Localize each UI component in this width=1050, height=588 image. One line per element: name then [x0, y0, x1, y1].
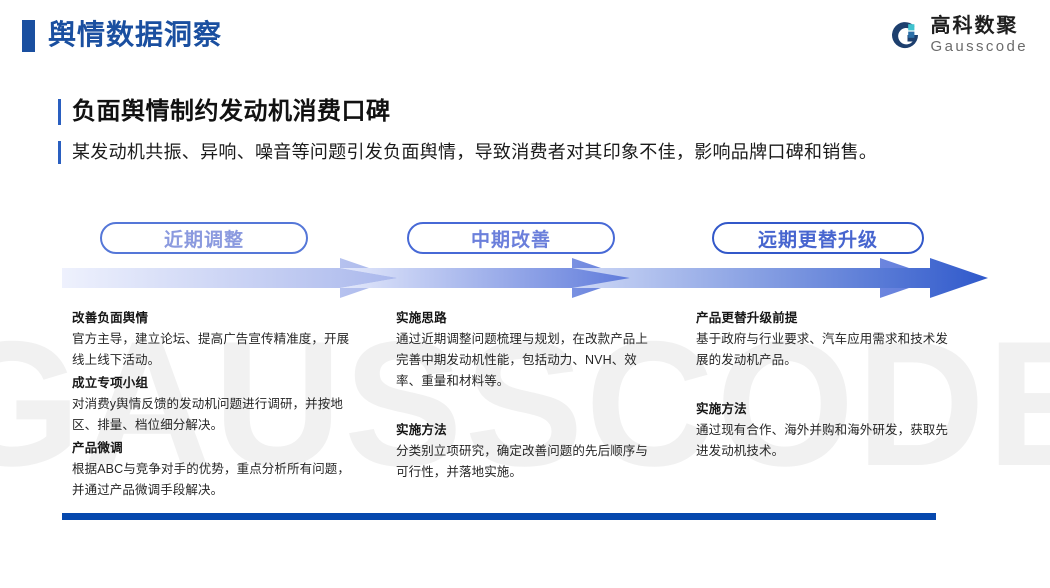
column-near-term: 改善负面舆情 官方主导，建立论坛、提高广告宣传精准度，开展线上线下活动。 成立专…	[72, 308, 350, 503]
detail-block: 实施方法 分类别立项研究，确定改善问题的先后顺序与可行性，并落地实施。	[396, 420, 660, 483]
detail-block: 改善负面舆情 官方主导，建立论坛、提高广告宣传精准度，开展线上线下活动。	[72, 308, 350, 371]
headline-row: 负面舆情制约发动机消费口碑	[58, 95, 988, 129]
block-title: 产品更替升级前提	[696, 308, 948, 329]
block-body: 对消费y舆情反馈的发动机问题进行调研，并按地区、排量、档位细分解决。	[72, 394, 350, 436]
stage-pill-long-term[interactable]: 远期更替升级	[712, 222, 924, 254]
stage-pill-mid-term[interactable]: 中期改善	[407, 222, 615, 254]
logo-name-en: Gausscode	[931, 39, 1028, 54]
block-body: 基于政府与行业要求、汽车应用需求和技术发展的发动机产品。	[696, 329, 948, 371]
subline-row: 某发动机共振、异响、噪音等问题引发负面舆情，导致消费者对其印象不佳，影响品牌口碑…	[58, 139, 988, 166]
column-mid-term: 实施思路 通过近期调整问题梳理与规划，在改款产品上完善中期发动机性能，包括动力、…	[396, 308, 660, 485]
block-body: 官方主导，建立论坛、提高广告宣传精准度，开展线上线下活动。	[72, 329, 350, 371]
stage-pill-near-term[interactable]: 近期调整	[100, 222, 308, 254]
detail-block: 实施方法 通过现有合作、海外并购和海外研发，获取先进发动机技术。	[696, 399, 948, 462]
footer-rule	[62, 513, 936, 520]
progress-arrow	[0, 256, 1050, 300]
header-accent-bar	[22, 20, 35, 52]
gausscode-logo-icon	[888, 18, 922, 52]
detail-block: 实施思路 通过近期调整问题梳理与规划，在改款产品上完善中期发动机性能，包括动力、…	[396, 308, 660, 392]
slide-root: GAUSSCODE 舆情数据洞察 高科数聚 Gausscode 负面舆情制约发动…	[0, 0, 1050, 588]
block-title: 改善负面舆情	[72, 308, 350, 329]
stage-pill-group: 近期调整 中期改善 远期更替升级	[0, 222, 1050, 256]
detail-block: 产品更替升级前提 基于政府与行业要求、汽车应用需求和技术发展的发动机产品。	[696, 308, 948, 371]
spacer	[396, 394, 660, 420]
detail-block: 产品微调 根据ABC与竞争对手的优势，重点分析所有问题，并通过产品微调手段解决。	[72, 438, 350, 501]
intro-block: 负面舆情制约发动机消费口碑 某发动机共振、异响、噪音等问题引发负面舆情，导致消费…	[58, 95, 988, 166]
column-long-term: 产品更替升级前提 基于政府与行业要求、汽车应用需求和技术发展的发动机产品。 实施…	[696, 308, 948, 464]
block-title: 产品微调	[72, 438, 350, 459]
block-body: 分类别立项研究，确定改善问题的先后顺序与可行性，并落地实施。	[396, 441, 660, 483]
spacer	[696, 373, 948, 399]
logo-wordmark: 高科数聚 Gausscode	[931, 16, 1028, 54]
detail-columns: 改善负面舆情 官方主导，建立论坛、提高广告宣传精准度，开展线上线下活动。 成立专…	[0, 308, 1050, 488]
block-title: 成立专项小组	[72, 373, 350, 394]
block-title: 实施方法	[396, 420, 660, 441]
headline-text: 负面舆情制约发动机消费口碑	[72, 95, 988, 129]
brand-logo: 高科数聚 Gausscode	[888, 16, 1028, 54]
page-title: 舆情数据洞察	[48, 15, 222, 55]
detail-block: 成立专项小组 对消费y舆情反馈的发动机问题进行调研，并按地区、排量、档位细分解决…	[72, 373, 350, 436]
slide-header: 舆情数据洞察 高科数聚 Gausscode	[0, 0, 1050, 72]
block-body: 通过近期调整问题梳理与规划，在改款产品上完善中期发动机性能，包括动力、NVH、效…	[396, 329, 660, 392]
block-title: 实施方法	[696, 399, 948, 420]
block-body: 通过现有合作、海外并购和海外研发，获取先进发动机技术。	[696, 420, 948, 462]
logo-name-cn: 高科数聚	[931, 16, 1028, 36]
block-title: 实施思路	[396, 308, 660, 329]
block-body: 根据ABC与竞争对手的优势，重点分析所有问题，并通过产品微调手段解决。	[72, 459, 350, 501]
subline-text: 某发动机共振、异响、噪音等问题引发负面舆情，导致消费者对其印象不佳，影响品牌口碑…	[72, 139, 988, 166]
